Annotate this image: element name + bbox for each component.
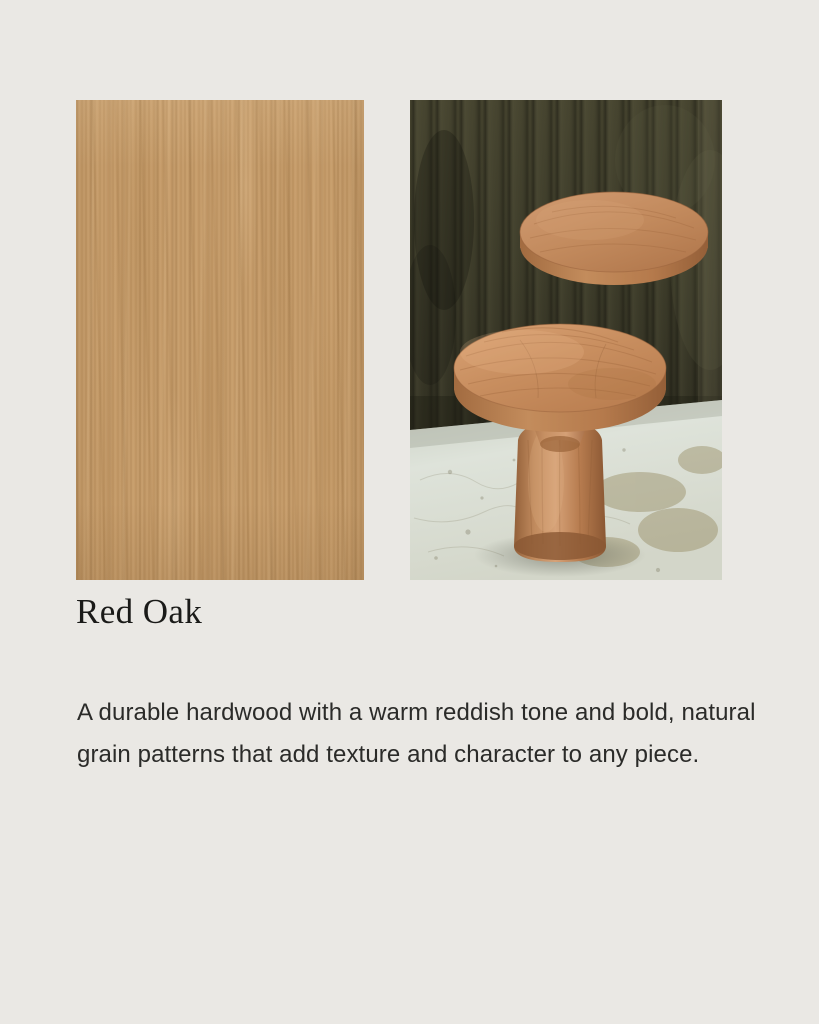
- material-description: A durable hardwood with a warm reddish t…: [77, 692, 767, 776]
- page-title: Red Oak: [76, 592, 202, 632]
- red-oak-wood-grain-swatch: [76, 100, 364, 580]
- swatch-grain-shading: [76, 100, 364, 580]
- red-oak-side-tables-photo: [410, 100, 722, 580]
- material-card: Red Oak A durable hardwood with a warm r…: [0, 0, 819, 1024]
- media-row: [76, 100, 722, 580]
